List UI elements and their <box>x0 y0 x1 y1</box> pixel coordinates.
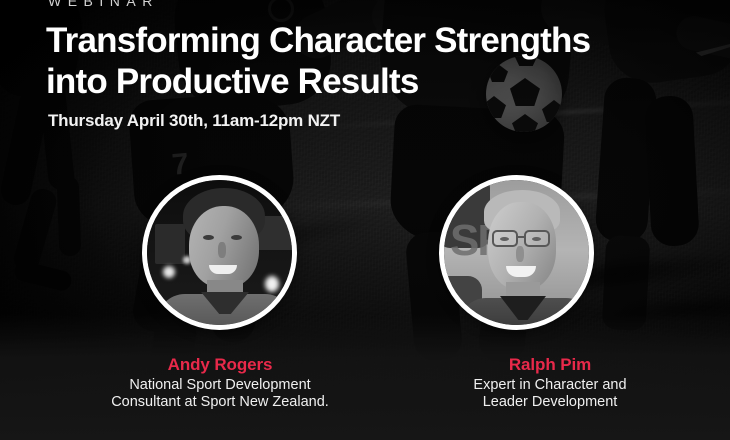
speaker-caption-ralph-pim: Ralph Pim Expert in Character and Leader… <box>370 355 730 411</box>
speaker-name: Andy Rogers <box>40 355 400 375</box>
avatar-andy-rogers <box>142 175 297 330</box>
speaker-role: National Sport Development Consultant at… <box>40 377 400 411</box>
event-datetime: Thursday April 30th, 11am-12pm NZT <box>48 111 340 131</box>
webinar-banner: 7 <box>0 0 730 440</box>
speaker-role-line-1: National Sport Development <box>129 377 310 393</box>
speaker-name: Ralph Pim <box>370 355 730 375</box>
title-line-1: Transforming Character Strengths <box>46 21 590 60</box>
glasses-icon <box>492 230 518 247</box>
speaker-caption-andy-rogers: Andy Rogers National Sport Development C… <box>40 355 400 411</box>
page-title: Transforming Character Strengths into Pr… <box>46 20 696 102</box>
speaker-role-line-2: Leader Development <box>483 394 618 410</box>
eyebrow-label: WEBINAR <box>48 0 159 9</box>
speaker-role: Expert in Character and Leader Developme… <box>370 377 730 411</box>
portrait-photo: SP <box>444 180 589 325</box>
avatar-ralph-pim: SP <box>439 175 594 330</box>
glasses-icon <box>524 230 550 247</box>
portrait-photo <box>147 180 292 325</box>
banner-content: WEBINAR Transforming Character Strengths… <box>0 0 730 440</box>
title-line-2: into Productive Results <box>46 61 696 102</box>
speaker-role-line-1: Expert in Character and <box>473 377 626 393</box>
speaker-role-line-2: Consultant at Sport New Zealand. <box>111 394 329 410</box>
